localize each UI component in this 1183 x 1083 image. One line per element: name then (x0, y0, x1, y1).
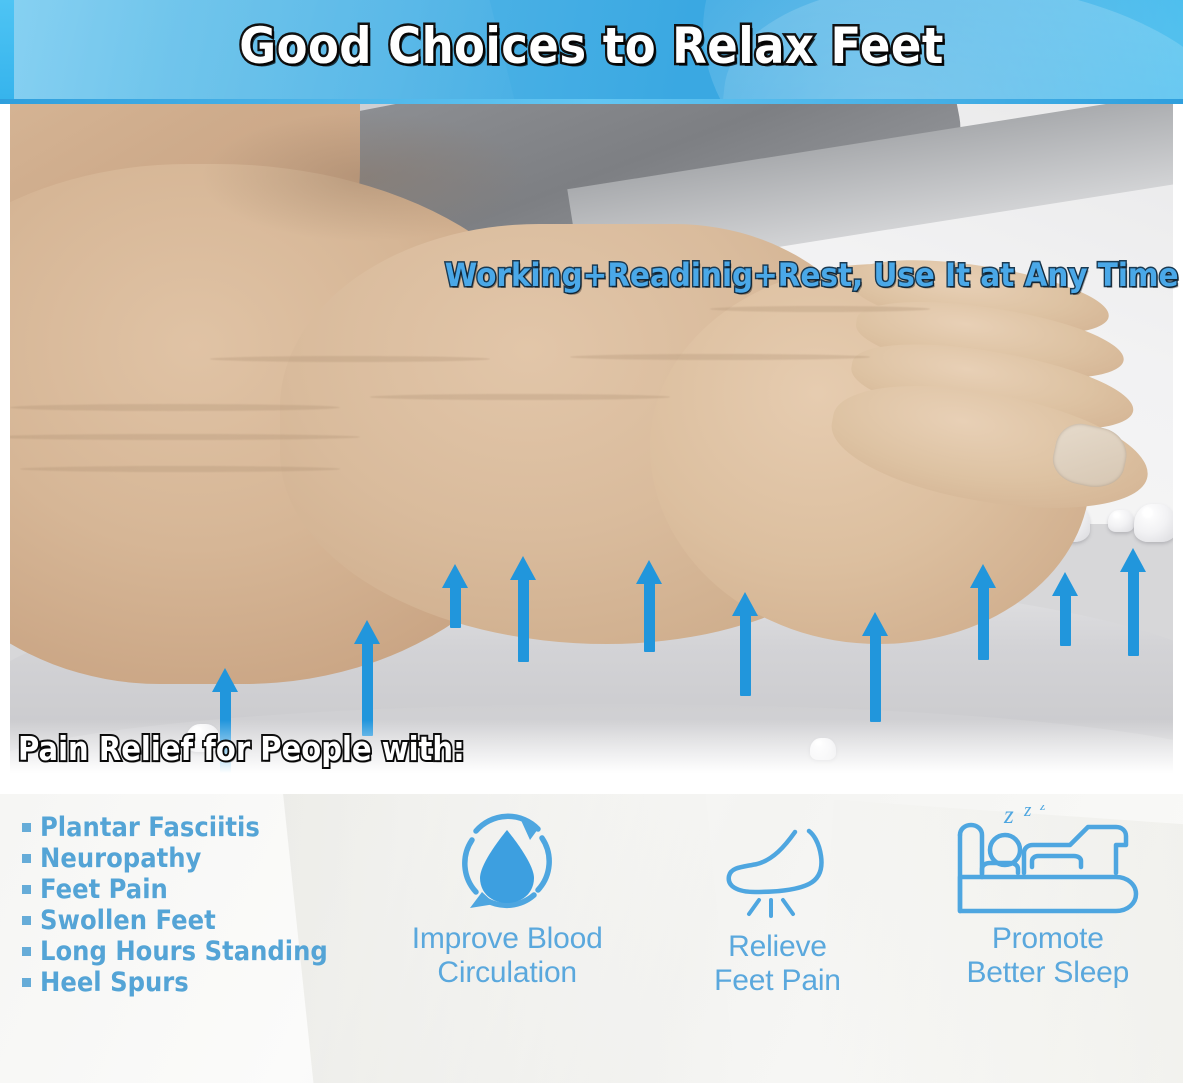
benefit-caption-line1: Relieve (714, 930, 841, 964)
benefit-promote-better-sleep: z z z Promote Better Sleep (913, 804, 1183, 989)
pressure-arrow (970, 564, 996, 660)
product-infographic: Good Choices to Relax Feet (0, 0, 1183, 1083)
list-item: Neuropathy (22, 845, 382, 872)
water-drop-shape (480, 830, 534, 903)
zzz-letter-medium: z (1023, 805, 1032, 821)
benefit-caption: Relieve Feet Pain (714, 930, 841, 997)
benefit-caption-line2: Circulation (412, 956, 603, 990)
conditions-list: Plantar Fasciitis Neuropathy Feet Pain S… (22, 814, 382, 1000)
benefit-caption-line2: Feet Pain (714, 964, 841, 998)
pressure-arrow (862, 612, 888, 722)
skin-crease (570, 354, 870, 360)
bullet-square-icon (22, 978, 31, 987)
pain-relief-heading: Pain Relief for People with: (18, 729, 465, 768)
benefit-icon-wrap: z z z (948, 804, 1148, 922)
bullet-square-icon (22, 854, 31, 863)
pressure-arrow (636, 560, 662, 652)
ankle-shadow (200, 112, 530, 242)
arrow-shaft (740, 612, 751, 696)
list-item-label: Swollen Feet (40, 907, 216, 934)
photo-subtitle: Working+Readinig+Rest, Use It at Any Tim… (445, 256, 1179, 294)
benefit-icon-wrap (442, 804, 572, 922)
list-item: Long Hours Standing (22, 938, 382, 965)
list-item: Heel Spurs (22, 969, 382, 996)
skin-crease (710, 306, 930, 312)
benefit-icon-wrap (715, 826, 839, 922)
list-item: Feet Pain (22, 876, 382, 903)
benefit-caption: Promote Better Sleep (966, 922, 1129, 989)
arrow-shaft (1060, 592, 1071, 646)
arrow-shaft (518, 576, 529, 662)
bullet-square-icon (22, 823, 31, 832)
product-photo-inner (10, 104, 1173, 794)
pressure-arrow (442, 564, 468, 628)
arrow-shaft (644, 580, 655, 652)
foot-relief-icon (715, 826, 839, 922)
list-item: Plantar Fasciitis (22, 814, 382, 841)
arrow-shaft (1128, 568, 1139, 656)
pressure-arrow (732, 592, 758, 696)
bullet-square-icon (22, 916, 31, 925)
pressure-arrow (510, 556, 536, 662)
arrow-shaft (450, 584, 461, 628)
benefit-caption-line2: Better Sleep (966, 956, 1129, 990)
water-drop-circulation-icon (442, 804, 572, 922)
skin-crease (370, 394, 670, 400)
person-sleeping-bed-icon: z z z (948, 805, 1148, 921)
skin-crease (20, 466, 340, 472)
zzz-letter-small: z (1039, 805, 1046, 814)
bullet-square-icon (22, 885, 31, 894)
list-item-label: Heel Spurs (40, 969, 189, 996)
arrow-shaft (870, 632, 881, 722)
pressure-arrow (1052, 572, 1078, 646)
header-banner: Good Choices to Relax Feet (0, 0, 1183, 104)
skin-crease (10, 404, 340, 411)
benefit-caption: Improve Blood Circulation (412, 922, 603, 989)
benefits-section: Plantar Fasciitis Neuropathy Feet Pain S… (0, 794, 1183, 1083)
list-item-label: Long Hours Standing (40, 938, 328, 965)
zzz-letter-large: z (1003, 805, 1014, 829)
skin-crease (210, 356, 490, 362)
benefits-row: Improve Blood Circulation (372, 804, 1183, 1083)
banner-left-edge (0, 0, 14, 104)
page-title: Good Choices to Relax Feet (59, 17, 1124, 75)
benefit-caption-line1: Improve Blood (412, 922, 603, 956)
benefit-improve-blood-circulation: Improve Blood Circulation (372, 804, 642, 989)
massage-nub (1134, 504, 1173, 542)
benefit-relieve-feet-pain: Relieve Feet Pain (642, 804, 912, 997)
pressure-arrow (354, 620, 380, 736)
arrow-shaft (978, 584, 989, 660)
list-item: Swollen Feet (22, 907, 382, 934)
massage-nub (1108, 510, 1134, 532)
list-item-label: Neuropathy (40, 845, 201, 872)
pressure-arrow (1120, 548, 1146, 656)
product-photo: Working+Readinig+Rest, Use It at Any Tim… (0, 104, 1183, 794)
list-item-label: Plantar Fasciitis (40, 814, 260, 841)
bullet-square-icon (22, 947, 31, 956)
benefit-caption-line1: Promote (966, 922, 1129, 956)
list-item-label: Feet Pain (40, 876, 168, 903)
foot-photo (10, 104, 1090, 694)
